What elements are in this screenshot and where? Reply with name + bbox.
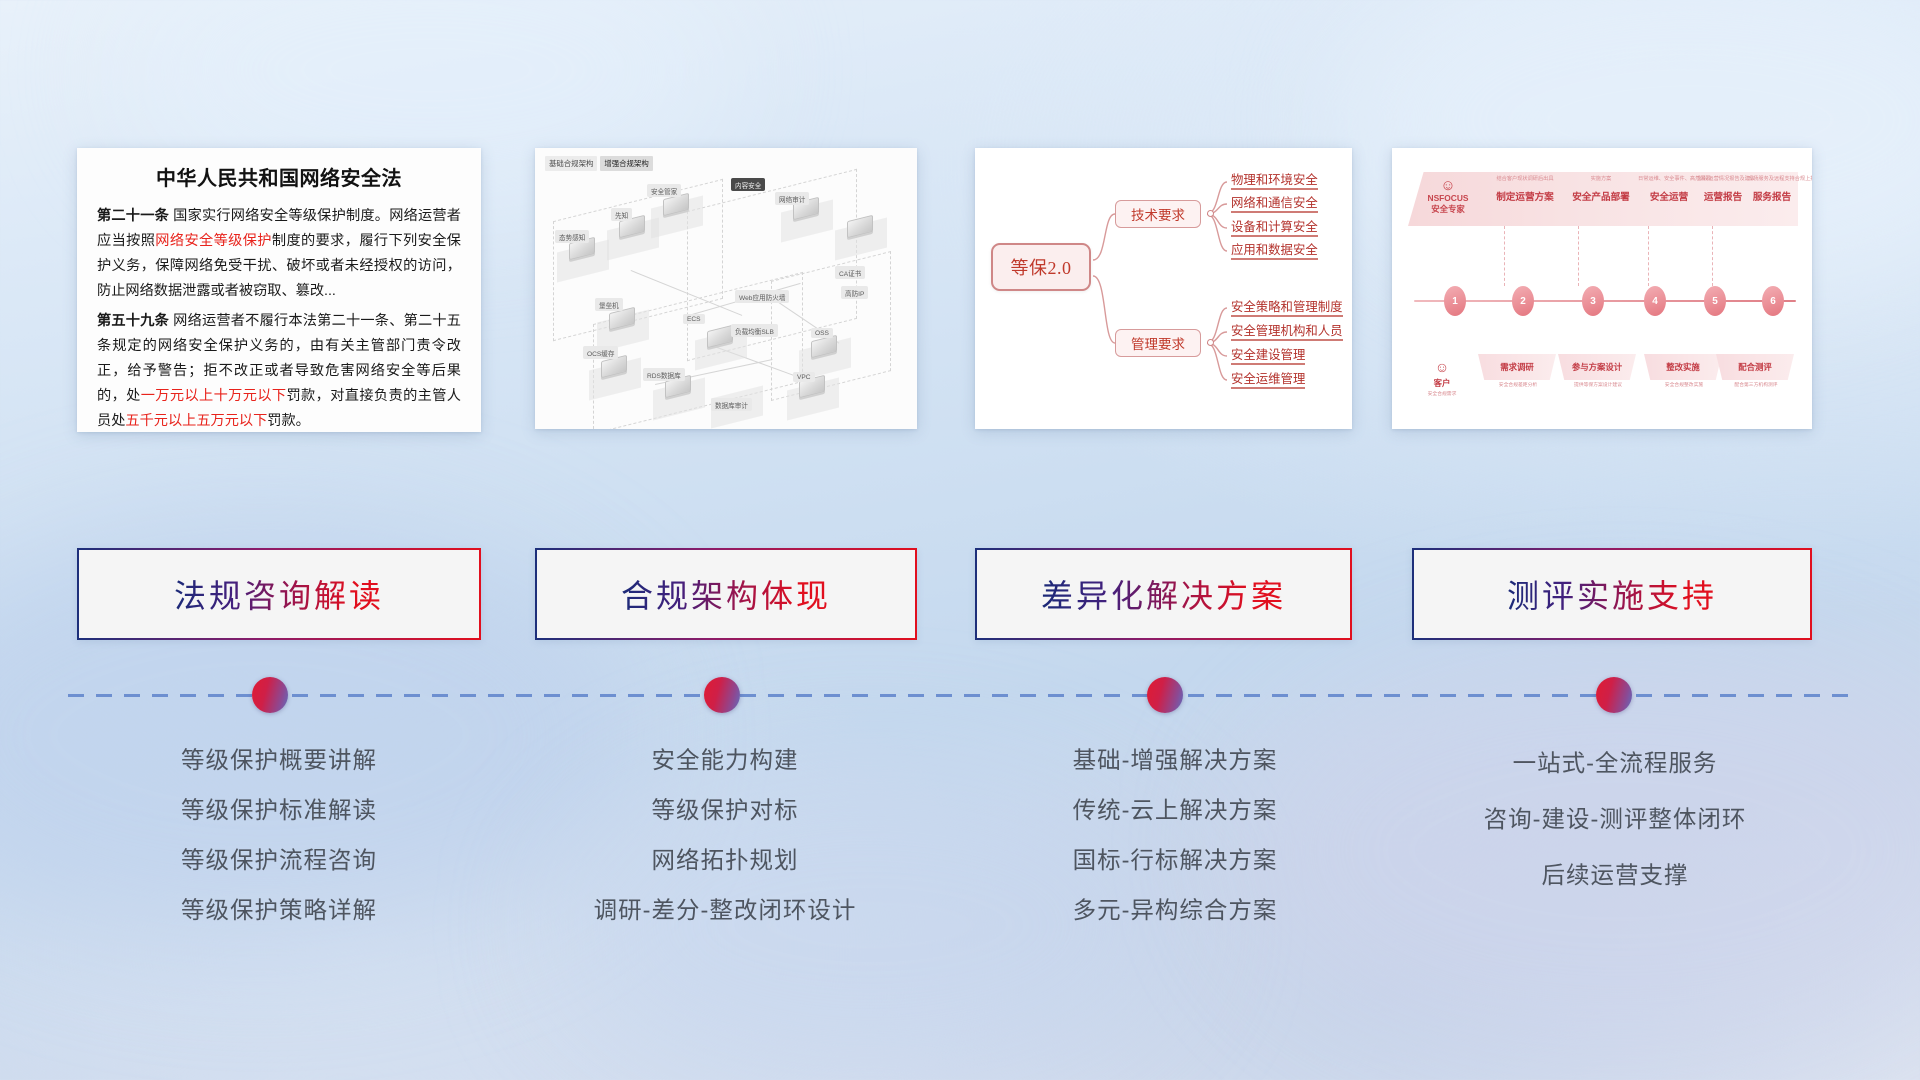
- mindmap-knob: [1207, 210, 1214, 217]
- step-sub: 现场服务及远程支持合规上报安全问题整改: [1748, 176, 1796, 183]
- list-item: 多元-异构综合方案: [975, 885, 1375, 935]
- timeline-dot[interactable]: [1596, 677, 1632, 713]
- leaf-label: 安全策略和管理制度: [1231, 300, 1343, 314]
- banner-title-row: 法规咨询解读 合规架构体现 差异化解决方案 测评实施支持: [0, 548, 1920, 644]
- node-ecs: ECS: [683, 314, 705, 324]
- step-sub: 结合客户现状调研后出具: [1488, 176, 1562, 183]
- node-security-steward: 安全管家: [647, 184, 681, 197]
- list-item: 咨询-建设-测评整体闭环: [1390, 791, 1840, 847]
- node-db-audit: 数据库审计: [711, 398, 752, 411]
- journey-step-number: 5: [1704, 286, 1726, 316]
- leaf-label: 安全运维管理: [1231, 372, 1305, 386]
- step-main: 安全产品部署: [1568, 189, 1634, 203]
- step-sub: 日常运维、安全事件、高危漏洞: [1638, 176, 1700, 183]
- tab-basic-architecture[interactable]: 基础合规架构: [545, 156, 597, 171]
- node-waf: Web应用防火墙: [735, 290, 789, 303]
- timeline-dot[interactable]: [252, 677, 288, 713]
- list-item: 调研-差分-整改闭环设计: [510, 885, 940, 935]
- node-ocs-cache: OCS缓存: [583, 346, 618, 359]
- expert-person-icon: ☺: [1418, 178, 1478, 193]
- journey-tag-sub: 提供等保方案设计建议: [1548, 382, 1648, 389]
- article-59-text-c: 罚款。: [267, 413, 310, 429]
- step-main: 服务报告: [1748, 189, 1796, 203]
- detail-list-assessment: 一站式-全流程服务 咨询-建设-测评整体闭环 后续运营支撑: [1390, 735, 1840, 903]
- list-item: 等级保护流程咨询: [77, 835, 481, 885]
- mindmap-leaf: 安全建设管理: [1231, 345, 1305, 365]
- journey-step-number: 3: [1582, 286, 1604, 316]
- node-oss: OSS: [811, 328, 833, 338]
- timeline: [0, 660, 1920, 720]
- leaf-label: 应用和数据安全: [1231, 243, 1318, 257]
- customer-icon: ☺: [1416, 360, 1468, 375]
- architecture-diagram: 基础合规架构 增强合规架构 态势感知 先知 安全管家 内容: [535, 148, 917, 429]
- article-59-highlight-1: 一万元以上十万元以下: [141, 388, 287, 404]
- node-anti-ddos-ip: 高防IP: [841, 286, 868, 299]
- node-xianzhi: 先知: [611, 208, 632, 221]
- journey-tag: 需求调研: [1478, 354, 1556, 380]
- leaf-label: 安全建设管理: [1231, 348, 1305, 362]
- mindmap-branch-management: 管理要求: [1115, 329, 1201, 357]
- banner-label: 合规架构体现: [621, 571, 831, 617]
- journey-step: 结合客户现状调研后出具 制定运营方案: [1488, 176, 1562, 203]
- leaf-label: 设备和计算安全: [1231, 220, 1318, 234]
- brand-sub: 安全专家: [1418, 204, 1478, 215]
- law-body: 中华人民共和国网络安全法 第二十一条 国家实行网络安全等级保护制度。网络运营者应…: [77, 148, 481, 432]
- node-ca-certificate: CA证书: [835, 266, 865, 279]
- banner-label: 差异化解决方案: [1041, 571, 1286, 617]
- journey-step-number: 4: [1644, 286, 1666, 316]
- leaf-label: 网络和通信安全: [1231, 196, 1318, 210]
- article-59-label: 第五十九条: [97, 313, 169, 329]
- banner-label: 法规咨询解读: [174, 571, 384, 617]
- banner-differentiated-solution[interactable]: 差异化解决方案: [975, 548, 1352, 640]
- journey-step: 阶段运营情况报告及建议 运营报告: [1698, 176, 1748, 203]
- list-item: 传统-云上解决方案: [975, 785, 1375, 835]
- image-card-row: 中华人民共和国网络安全法 第二十一条 国家实行网络安全等级保护制度。网络运营者应…: [0, 148, 1920, 440]
- timeline-dot[interactable]: [704, 677, 740, 713]
- architecture-tabs: 基础合规架构 增强合规架构: [545, 156, 653, 171]
- detail-list-solution: 基础-增强解决方案 传统-云上解决方案 国标-行标解决方案 多元-异构综合方案: [975, 735, 1375, 935]
- list-item: 等级保护标准解读: [77, 785, 481, 835]
- leaf-label: 物理和环境安全: [1231, 173, 1318, 187]
- banner-assessment-support[interactable]: 测评实施支持: [1412, 548, 1812, 640]
- banner-label: 测评实施支持: [1507, 571, 1717, 617]
- article-21-highlight: 网络安全等级保护: [155, 233, 272, 249]
- mindmap-root: 等保2.0: [991, 243, 1091, 291]
- step-main: 安全运营: [1638, 189, 1700, 203]
- tab-enhanced-architecture[interactable]: 增强合规架构: [600, 156, 652, 171]
- article-59-highlight-2: 五千元以上五万元以下: [125, 413, 267, 429]
- detail-list-architecture: 安全能力构建 等级保护对标 网络拓扑规划 调研-差分-整改闭环设计: [510, 735, 940, 935]
- node-situational-awareness: 态势感知: [555, 230, 589, 243]
- node-bastion-host: 堡垒机: [595, 298, 623, 311]
- mindmap: 等保2.0 技术要求 管理要求 物理和环境安全 网络和通信安全 设备和计算安全 …: [975, 148, 1352, 429]
- journey-axis: [1414, 300, 1796, 302]
- detail-list-row: 等级保护概要讲解 等级保护标准解读 等级保护流程咨询 等级保护策略详解 安全能力…: [0, 735, 1920, 975]
- journey-dash: [1648, 226, 1649, 286]
- law-article-21: 第二十一条 国家实行网络安全等级保护制度。网络运营者应当按照网络安全等级保护制度…: [97, 204, 461, 304]
- journey-step-number: 6: [1762, 286, 1784, 316]
- law-title: 中华人民共和国网络安全法: [97, 162, 461, 191]
- timeline-dot[interactable]: [1147, 677, 1183, 713]
- article-21-label: 第二十一条: [97, 208, 169, 224]
- node-content-security: 内容安全: [731, 178, 765, 191]
- journey-dash: [1578, 226, 1579, 286]
- mindmap-leaf: 设备和计算安全: [1231, 217, 1318, 237]
- mindmap-leaf: 应用和数据安全: [1231, 240, 1318, 260]
- list-item: 一站式-全流程服务: [1390, 735, 1840, 791]
- list-item: 等级保护对标: [510, 785, 940, 835]
- card-mindmap-dengbao: 等保2.0 技术要求 管理要求 物理和环境安全 网络和通信安全 设备和计算安全 …: [975, 148, 1352, 429]
- law-article-59: 第五十九条 网络运营者不履行本法第二十一条、第二十五条规定的网络安全保护义务的，…: [97, 309, 461, 432]
- journey-customer: ☺ 客户 安全合规需求: [1416, 360, 1468, 398]
- journey-tag: 配合测评: [1716, 354, 1794, 380]
- mindmap-leaf: 安全策略和管理制度: [1231, 297, 1343, 317]
- list-item: 安全能力构建: [510, 735, 940, 785]
- node-slb: 负载均衡SLB: [731, 324, 778, 337]
- mindmap-leaf: 安全运维管理: [1231, 369, 1305, 389]
- step-main: 运营报告: [1698, 189, 1748, 203]
- leaf-label: 安全管理机构和人员: [1231, 324, 1343, 338]
- list-item: 网络拓扑规划: [510, 835, 940, 885]
- card-cloud-architecture: 基础合规架构 增强合规架构 态势感知 先知 安全管家 内容: [535, 148, 917, 429]
- step-sub: 阶段运营情况报告及建议: [1698, 176, 1748, 183]
- journey-step: 实施方案 安全产品部署: [1568, 176, 1634, 203]
- brand-name: NSFOCUS: [1418, 193, 1478, 204]
- node-rds-database: RDS数据库: [643, 368, 685, 381]
- list-item: 等级保护策略详解: [77, 885, 481, 935]
- step-main: 制定运营方案: [1488, 189, 1562, 203]
- mindmap-leaf: 物理和环境安全: [1231, 170, 1318, 190]
- mindmap-branch-technical: 技术要求: [1115, 200, 1201, 228]
- banner-compliance-architecture[interactable]: 合规架构体现: [535, 548, 917, 640]
- mindmap-leaf: 安全管理机构和人员: [1231, 321, 1343, 341]
- card-cybersecurity-law: 中华人民共和国网络安全法 第二十一条 国家实行网络安全等级保护制度。网络运营者应…: [77, 148, 481, 432]
- banner-regulation-consulting[interactable]: 法规咨询解读: [77, 548, 481, 640]
- journey-tag: 整改实施: [1644, 354, 1722, 380]
- detail-list-regulation: 等级保护概要讲解 等级保护标准解读 等级保护流程咨询 等级保护策略详解: [77, 735, 481, 935]
- card-service-journey: ☺ NSFOCUS 安全专家 结合客户现状调研后出具 制定运营方案 实施方案 安…: [1392, 148, 1812, 429]
- list-item: 等级保护概要讲解: [77, 735, 481, 785]
- journey-dash: [1712, 226, 1713, 286]
- journey-diagram: ☺ NSFOCUS 安全专家 结合客户现状调研后出具 制定运营方案 实施方案 安…: [1392, 148, 1812, 429]
- journey-step-number: 2: [1512, 286, 1534, 316]
- journey-tag-sub: 配合第三方机构测评: [1706, 382, 1806, 389]
- customer-label: 客户: [1416, 377, 1468, 389]
- step-sub: 实施方案: [1568, 176, 1634, 183]
- node-network-audit: 网络审计: [775, 192, 809, 205]
- mindmap-knob: [1207, 339, 1214, 346]
- list-item: 国标-行标解决方案: [975, 835, 1375, 885]
- journey-step-number: 1: [1444, 286, 1466, 316]
- journey-brand: ☺ NSFOCUS 安全专家: [1418, 178, 1478, 215]
- timeline-dashed-line: [68, 694, 1852, 697]
- mindmap-leaf: 网络和通信安全: [1231, 193, 1318, 213]
- journey-dash: [1504, 226, 1505, 286]
- node-vpc: VPC: [793, 372, 815, 382]
- journey-step: 日常运维、安全事件、高危漏洞 安全运营: [1638, 176, 1700, 203]
- journey-tag: 参与方案设计: [1558, 354, 1636, 380]
- customer-sub: 安全合规需求: [1416, 391, 1468, 398]
- list-item: 后续运营支撑: [1390, 847, 1840, 903]
- journey-step: 现场服务及远程支持合规上报安全问题整改 服务报告: [1748, 176, 1796, 203]
- list-item: 基础-增强解决方案: [975, 735, 1375, 785]
